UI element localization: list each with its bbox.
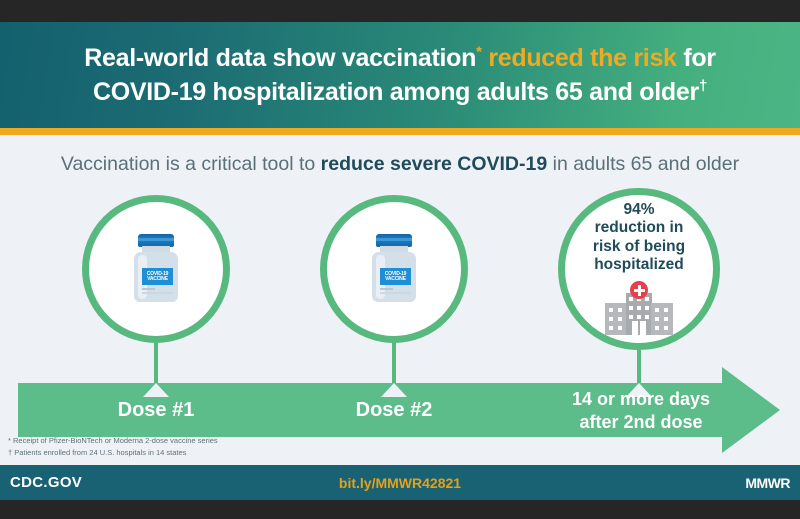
footnote-asterisk: * Receipt of Pfizer-BioNTech or Moderna … [8, 435, 218, 447]
timeline-label-dose-2: Dose #2 [324, 399, 464, 422]
footnote-dagger: † Patients enrolled from 24 U.S. hospita… [8, 447, 218, 459]
timeline-label-line-2: after 2nd dose [552, 411, 730, 434]
footnotes-block: * Receipt of Pfizer-BioNTech or Moderna … [8, 435, 218, 458]
hospital-left-wing [605, 303, 627, 335]
footer-bitly-link[interactable]: bit.ly/MMWR42821 [0, 475, 800, 491]
gold-divider-rule [0, 128, 800, 135]
header-title-line-2: COVID-19 hospitalization among adults 65… [93, 75, 707, 110]
infographic-screen: Real-world data show vaccination* reduce… [0, 0, 800, 519]
timeline-label-after-2nd-dose: 14 or more days after 2nd dose [552, 388, 730, 433]
vial-label-lines [142, 288, 173, 296]
vial-label: COVID-19 VACCINE [142, 268, 173, 285]
vial-body: COVID-19 VACCINE [372, 252, 416, 302]
main-panel: Vaccination is a critical tool to reduce… [0, 135, 800, 465]
header-title-highlight: reduced the risk [488, 44, 676, 72]
hospital-entrance-door [632, 321, 646, 335]
header-title-part-1: Real-world data show vaccination [84, 44, 476, 72]
subtitle: Vaccination is a critical tool to reduce… [0, 153, 800, 176]
header-title-line-2-text: COVID-19 hospitalization among adults 65… [93, 78, 699, 106]
timeline-notch-dose-2 [381, 383, 407, 397]
stat-text-block: 94% reduction in risk of being hospitali… [593, 201, 685, 274]
stat-line-2: reduction in [593, 219, 685, 237]
connector-stem-dose-2 [392, 343, 396, 383]
header-title-part-2: for [683, 44, 715, 72]
bottom-letterbox [0, 500, 800, 519]
connector-stem-dose-1 [154, 343, 158, 383]
stat-line-3: risk of being [593, 238, 685, 256]
stat-line-4: hospitalized [593, 256, 685, 274]
header-asterisk-footnote-marker: * [476, 43, 482, 60]
timeline-label-dose-1: Dose #1 [86, 399, 226, 422]
timeline-arrow-head [722, 367, 780, 453]
subtitle-bold: reduce severe COVID-19 [321, 153, 548, 175]
vial-label-line-2: VACCINE [147, 277, 168, 282]
medical-cross-icon [630, 281, 648, 299]
hospital-icon [603, 281, 675, 335]
header-dagger-footnote-marker: † [699, 78, 707, 95]
vaccine-vial-icon: COVID-19 VACCINE [129, 234, 183, 304]
subtitle-part-1: Vaccination is a critical tool to [61, 153, 315, 175]
timeline-label-line-1: 14 or more days [552, 388, 730, 411]
vial-label: COVID-19 VACCINE [380, 268, 411, 285]
footer-bar: CDC.GOV bit.ly/MMWR42821 MMWR [0, 465, 800, 500]
vial-label-lines [380, 288, 411, 296]
hospital-right-wing [651, 303, 673, 335]
vial-label-line-2: VACCINE [385, 277, 406, 282]
timeline-notch-dose-1 [143, 383, 169, 397]
header-banner: Real-world data show vaccination* reduce… [0, 22, 800, 128]
header-title-line-1: Real-world data show vaccination* reduce… [84, 41, 716, 76]
footer-mmwr-logo: MMWR [745, 475, 790, 491]
vial-body: COVID-19 VACCINE [134, 252, 178, 302]
subtitle-part-2: in adults 65 and older [553, 153, 739, 175]
connector-stem-after-2nd-dose [637, 350, 641, 383]
vaccine-vial-icon: COVID-19 VACCINE [367, 234, 421, 304]
step-circle-after-2nd-dose: 94% reduction in risk of being hospitali… [558, 188, 720, 350]
step-circle-dose-2: COVID-19 VACCINE [320, 195, 468, 343]
stat-percentage: 94% [593, 201, 685, 219]
step-circle-dose-1: COVID-19 VACCINE [82, 195, 230, 343]
